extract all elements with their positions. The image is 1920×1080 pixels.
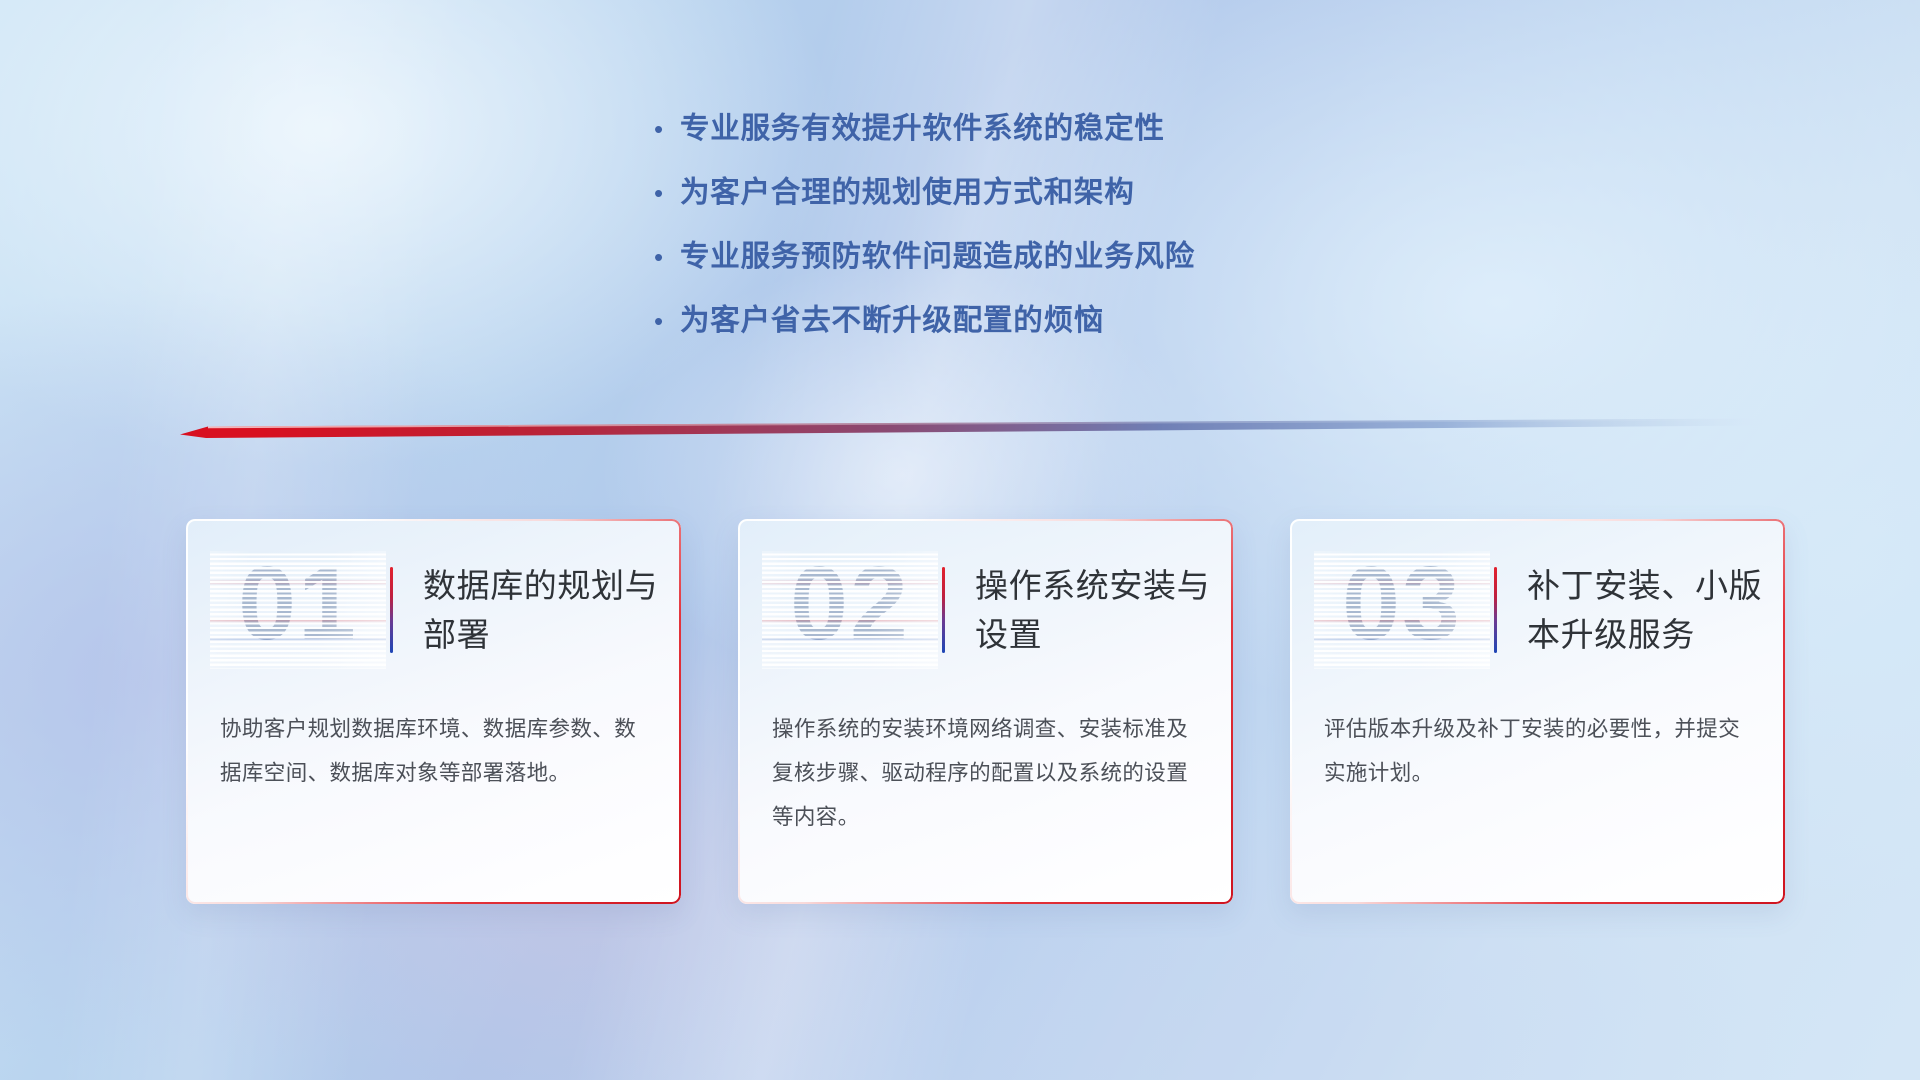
card-header: 01 数据库的规划与部署	[186, 519, 681, 701]
card-description: 评估版本升级及补丁安装的必要性，并提交实施计划。	[1324, 707, 1751, 795]
card-description: 操作系统的安装环境网络调查、安装标准及复核步骤、驱动程序的配置以及系统的设置等内…	[772, 707, 1199, 839]
card-title: 操作系统安装与设置	[945, 561, 1233, 659]
bullet-label: 专业服务预防软件问题造成的业务风险	[680, 238, 1195, 276]
slide-canvas: • 专业服务有效提升软件系统的稳定性 • 为客户合理的规划使用方式和架构 • 专…	[0, 0, 1920, 1080]
card-header: 02 操作系统安装与设置	[738, 519, 1233, 701]
bullet-dot-icon: •	[652, 174, 680, 212]
card-number-watermark: 03	[1314, 551, 1490, 669]
bullet-item: • 专业服务有效提升软件系统的稳定性	[652, 110, 1452, 174]
bullet-item: • 为客户省去不断升级配置的烦恼	[652, 302, 1452, 366]
bullet-dot-icon: •	[652, 238, 680, 276]
benefit-bullet-list: • 专业服务有效提升软件系统的稳定性 • 为客户合理的规划使用方式和架构 • 专…	[652, 110, 1452, 366]
bullet-label: 专业服务有效提升软件系统的稳定性	[680, 110, 1165, 148]
card-title: 补丁安装、小版本升级服务	[1497, 561, 1785, 659]
service-card-row: 01 数据库的规划与部署 协助客户规划数据库环境、数据库参数、数据库空间、数据库…	[186, 519, 1786, 919]
card-title: 数据库的规划与部署	[393, 561, 681, 659]
bullet-dot-icon: •	[652, 302, 680, 340]
card-number-fade	[1314, 551, 1490, 669]
card-number-fade	[210, 551, 386, 669]
service-card[interactable]: 01 数据库的规划与部署 协助客户规划数据库环境、数据库参数、数据库空间、数据库…	[186, 519, 681, 904]
bullet-item: • 为客户合理的规划使用方式和架构	[652, 174, 1452, 238]
card-number-watermark: 02	[762, 551, 938, 669]
bullet-item: • 专业服务预防软件问题造成的业务风险	[652, 238, 1452, 302]
service-card[interactable]: 03 补丁安装、小版本升级服务 评估版本升级及补丁安装的必要性，并提交实施计划。	[1290, 519, 1785, 904]
card-number-watermark: 01	[210, 551, 386, 669]
bullet-label: 为客户合理的规划使用方式和架构	[680, 174, 1135, 212]
card-description: 协助客户规划数据库环境、数据库参数、数据库空间、数据库对象等部署落地。	[220, 707, 647, 795]
bullet-label: 为客户省去不断升级配置的烦恼	[680, 302, 1104, 340]
card-header: 03 补丁安装、小版本升级服务	[1290, 519, 1785, 701]
card-number-fade	[762, 551, 938, 669]
service-card[interactable]: 02 操作系统安装与设置 操作系统的安装环境网络调查、安装标准及复核步骤、驱动程…	[738, 519, 1233, 904]
bullet-dot-icon: •	[652, 110, 680, 148]
